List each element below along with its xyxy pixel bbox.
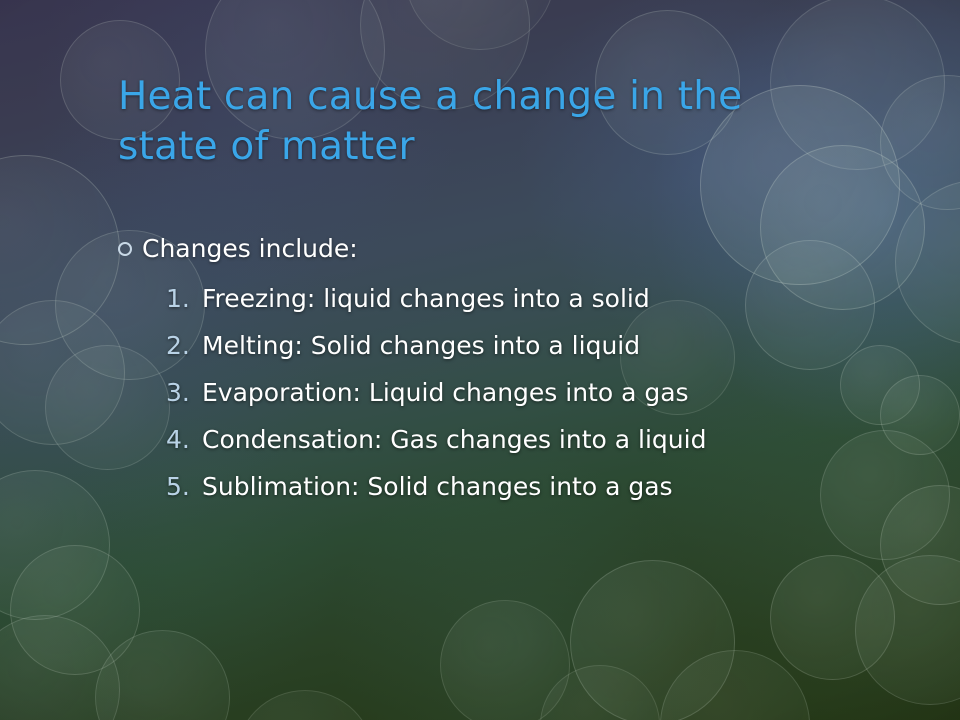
list-item-number: 3. [166, 376, 202, 409]
list-item-text: Condensation: Gas changes into a liquid [202, 423, 812, 456]
list-item-number: 5. [166, 470, 202, 503]
list-item-text: Freezing: liquid changes into a solid [202, 282, 812, 315]
numbered-list: 1.Freezing: liquid changes into a solid2… [118, 282, 908, 503]
slide-body: Changes include: 1.Freezing: liquid chan… [118, 232, 908, 517]
hollow-circle-bullet-icon [118, 242, 132, 256]
numbered-list-item: 3.Evaporation: Liquid changes into a gas [166, 376, 908, 409]
numbered-list-item: 5.Sublimation: Solid changes into a gas [166, 470, 908, 503]
slide-content: Heat can cause a change in the state of … [0, 0, 960, 720]
list-item-number: 2. [166, 329, 202, 362]
numbered-list-item: 1.Freezing: liquid changes into a solid [166, 282, 908, 315]
lead-in-bullet-item: Changes include: [118, 232, 908, 266]
numbered-list-item: 4.Condensation: Gas changes into a liqui… [166, 423, 908, 456]
list-item-text: Evaporation: Liquid changes into a gas [202, 376, 812, 409]
list-item-number: 4. [166, 423, 202, 456]
numbered-list-item: 2.Melting: Solid changes into a liquid [166, 329, 908, 362]
lead-in-text: Changes include: [142, 232, 358, 266]
presentation-slide: Heat can cause a change in the state of … [0, 0, 960, 720]
list-item-number: 1. [166, 282, 202, 315]
slide-title: Heat can cause a change in the state of … [118, 72, 848, 172]
list-item-text: Melting: Solid changes into a liquid [202, 329, 812, 362]
list-item-text: Sublimation: Solid changes into a gas [202, 470, 812, 503]
